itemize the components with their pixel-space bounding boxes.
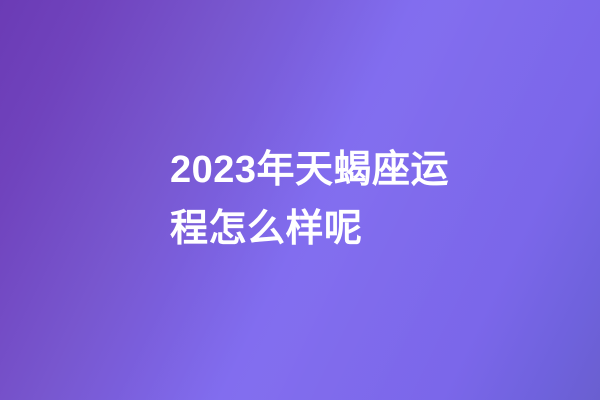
- article-thumbnail-card: 2023年天蝎座运程怎么样呢: [0, 0, 600, 400]
- page-title: 2023年天蝎座运程怎么样呢: [170, 141, 450, 260]
- headline-block: 2023年天蝎座运程怎么样呢: [170, 0, 450, 400]
